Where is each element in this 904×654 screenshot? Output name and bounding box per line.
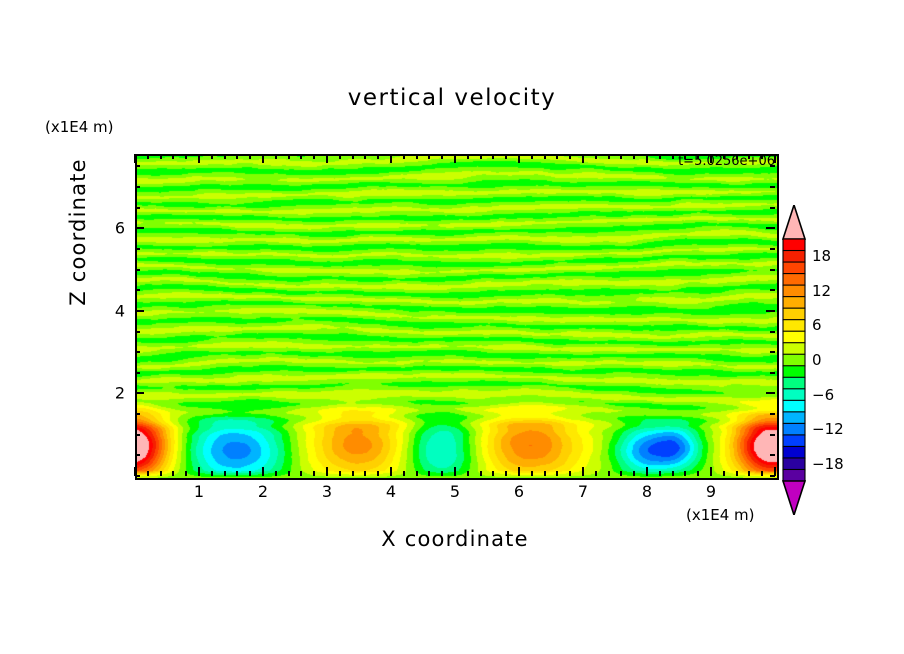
x-minor-tick-top — [467, 154, 469, 159]
y-minor-tick — [135, 475, 140, 477]
x-minor-tick-top — [531, 154, 533, 159]
colorbar-band — [783, 285, 805, 297]
colorbar-band — [783, 239, 805, 251]
colorbar-over-arrow — [783, 205, 805, 239]
colorbar-tick-label: 12 — [812, 282, 831, 300]
x-minor-tick-top — [352, 154, 354, 159]
x-minor-tick — [236, 471, 238, 476]
x-minor-tick-top — [595, 154, 597, 159]
x-minor-tick — [428, 471, 430, 476]
colorbar-band — [783, 343, 805, 355]
colorbar-band — [783, 458, 805, 470]
x-minor-tick — [211, 471, 213, 476]
x-minor-tick-top — [300, 154, 302, 159]
x-major-tick-top — [390, 154, 392, 163]
colorbar-tick-label: −18 — [812, 455, 844, 473]
x-minor-tick-top — [441, 154, 443, 159]
x-minor-tick — [288, 471, 290, 476]
x-minor-tick — [672, 471, 674, 476]
x-minor-tick-top — [672, 154, 674, 159]
colorbar-band — [783, 412, 805, 424]
x-minor-tick-top — [224, 154, 226, 159]
colorbar-band — [783, 469, 805, 481]
colorbar-band — [783, 446, 805, 458]
x-minor-tick — [467, 471, 469, 476]
x-major-tick — [710, 467, 712, 476]
colorbar-band — [783, 354, 805, 366]
y-minor-tick-right — [770, 372, 775, 374]
contour-field-canvas — [137, 156, 777, 478]
x-minor-tick-top — [236, 154, 238, 159]
x-minor-tick — [441, 471, 443, 476]
x-minor-tick-top — [288, 154, 290, 159]
y-minor-tick — [135, 454, 140, 456]
y-minor-tick-right — [770, 434, 775, 436]
x-major-tick — [390, 467, 392, 476]
x-minor-tick-top — [172, 154, 174, 159]
y-minor-tick — [135, 434, 140, 436]
contour-figure: vertical velocity (x1E4 m) t=5.0256e+06 … — [0, 0, 904, 654]
colorbar-tick-label: 0 — [812, 351, 822, 369]
x-major-tick — [262, 467, 264, 476]
x-major-tick-top — [326, 154, 328, 163]
x-minor-tick — [492, 471, 494, 476]
x-minor-tick — [748, 471, 750, 476]
x-minor-tick — [300, 471, 302, 476]
y-minor-tick — [135, 207, 140, 209]
x-minor-tick — [377, 471, 379, 476]
y-minor-tick — [135, 331, 140, 333]
y-axis-title: Z coordinate — [66, 132, 90, 332]
x-minor-tick — [633, 471, 635, 476]
colorbar-band — [783, 331, 805, 343]
x-major-tick — [454, 467, 456, 476]
x-minor-tick — [608, 471, 610, 476]
y-major-tick-right — [766, 310, 775, 312]
x-minor-tick — [595, 471, 597, 476]
x-minor-tick-top — [211, 154, 213, 159]
x-tick-label: 2 — [258, 482, 268, 501]
x-minor-tick — [684, 471, 686, 476]
x-minor-tick — [364, 471, 366, 476]
x-minor-tick-top — [313, 154, 315, 159]
x-major-tick — [198, 467, 200, 476]
x-minor-tick-top — [659, 154, 661, 159]
colorbar-band — [783, 262, 805, 274]
x-tick-label: 8 — [642, 482, 652, 501]
x-minor-tick — [556, 471, 558, 476]
y-minor-tick — [135, 269, 140, 271]
y-minor-tick-right — [770, 289, 775, 291]
x-minor-tick — [185, 471, 187, 476]
y-minor-tick — [135, 248, 140, 250]
x-minor-tick — [697, 471, 699, 476]
x-minor-tick — [480, 471, 482, 476]
x-minor-tick-top — [416, 154, 418, 159]
x-minor-tick-top — [403, 154, 405, 159]
y-minor-tick-right — [770, 248, 775, 250]
x-minor-tick-top — [492, 154, 494, 159]
x-minor-tick — [160, 471, 162, 476]
x-tick-label: 1 — [194, 482, 204, 501]
x-minor-tick — [531, 471, 533, 476]
y-minor-tick — [135, 372, 140, 374]
x-major-tick — [646, 467, 648, 476]
x-minor-tick — [249, 471, 251, 476]
y-minor-tick-right — [770, 269, 775, 271]
x-minor-tick — [172, 471, 174, 476]
x-major-tick-top — [646, 154, 648, 163]
x-minor-tick-top — [633, 154, 635, 159]
x-major-tick-top — [198, 154, 200, 163]
plot-area: t=5.0256e+06 — [135, 154, 779, 480]
colorbar-band — [783, 320, 805, 332]
x-minor-tick — [569, 471, 571, 476]
timestamp-annotation: t=5.0256e+06 — [678, 154, 775, 169]
x-major-tick — [518, 467, 520, 476]
x-major-tick-top — [262, 154, 264, 163]
x-tick-label: 4 — [386, 482, 396, 501]
x-minor-tick-top — [275, 154, 277, 159]
x-tick-label: 3 — [322, 482, 332, 501]
x-minor-tick-top — [377, 154, 379, 159]
x-minor-tick — [224, 471, 226, 476]
y-minor-tick-right — [770, 207, 775, 209]
x-tick-label: 7 — [578, 482, 588, 501]
x-major-tick — [326, 467, 328, 476]
x-minor-tick-top — [608, 154, 610, 159]
x-minor-tick — [313, 471, 315, 476]
x-minor-tick — [403, 471, 405, 476]
y-major-tick — [135, 392, 144, 394]
y-tick-label: 6 — [97, 219, 125, 238]
x-minor-tick — [339, 471, 341, 476]
x-minor-tick-top — [480, 154, 482, 159]
y-minor-tick-right — [770, 413, 775, 415]
y-major-tick-right — [766, 392, 775, 394]
colorbar-gradient — [782, 205, 806, 515]
x-minor-tick — [620, 471, 622, 476]
colorbar-band — [783, 435, 805, 447]
colorbar-tick-label: 6 — [812, 316, 822, 334]
y-minor-tick — [135, 186, 140, 188]
x-major-tick — [582, 467, 584, 476]
colorbar-tick-label: −6 — [812, 386, 834, 404]
x-minor-tick — [723, 471, 725, 476]
x-tick-label: 9 — [706, 482, 716, 501]
x-minor-tick — [736, 471, 738, 476]
x-major-tick-top — [134, 154, 136, 163]
colorbar-band — [783, 366, 805, 378]
x-tick-label: 6 — [514, 482, 524, 501]
y-minor-tick-right — [770, 454, 775, 456]
y-minor-tick-right — [770, 475, 775, 477]
x-axis-units-label: (x1E4 m) — [686, 506, 755, 524]
x-minor-tick-top — [185, 154, 187, 159]
colorbar-under-arrow — [783, 481, 805, 515]
x-minor-tick — [352, 471, 354, 476]
colorbar-band — [783, 377, 805, 389]
x-minor-tick — [659, 471, 661, 476]
x-minor-tick-top — [428, 154, 430, 159]
x-minor-tick-top — [364, 154, 366, 159]
x-minor-tick-top — [544, 154, 546, 159]
x-major-tick-top — [454, 154, 456, 163]
y-tick-label: 4 — [97, 301, 125, 320]
x-minor-tick — [416, 471, 418, 476]
colorbar-band — [783, 274, 805, 286]
y-minor-tick-right — [770, 331, 775, 333]
x-tick-label: 5 — [450, 482, 460, 501]
colorbar-band — [783, 389, 805, 401]
y-minor-tick-right — [770, 186, 775, 188]
y-minor-tick — [135, 165, 140, 167]
x-major-tick-top — [518, 154, 520, 163]
x-minor-tick-top — [339, 154, 341, 159]
colorbar-tick-label: 18 — [812, 247, 831, 265]
colorbar-band — [783, 423, 805, 435]
y-tick-label: 2 — [97, 384, 125, 403]
y-minor-tick-right — [770, 351, 775, 353]
x-minor-tick-top — [249, 154, 251, 159]
x-minor-tick — [544, 471, 546, 476]
x-minor-tick-top — [147, 154, 149, 159]
x-minor-tick-top — [160, 154, 162, 159]
y-major-tick-right — [766, 227, 775, 229]
x-major-tick-top — [582, 154, 584, 163]
x-minor-tick-top — [620, 154, 622, 159]
x-minor-tick-top — [505, 154, 507, 159]
x-minor-tick — [761, 471, 763, 476]
colorbar: 181260−6−12−18 — [782, 205, 806, 515]
y-minor-tick — [135, 413, 140, 415]
x-minor-tick — [505, 471, 507, 476]
page-title: vertical velocity — [0, 85, 904, 111]
y-minor-tick — [135, 289, 140, 291]
x-minor-tick-top — [569, 154, 571, 159]
y-minor-tick — [135, 351, 140, 353]
x-axis-title: X coordinate — [135, 527, 775, 551]
y-major-tick — [135, 227, 144, 229]
colorbar-band — [783, 308, 805, 320]
colorbar-tick-label: −12 — [812, 420, 844, 438]
y-major-tick — [135, 310, 144, 312]
x-minor-tick — [147, 471, 149, 476]
x-minor-tick — [275, 471, 277, 476]
colorbar-band — [783, 297, 805, 309]
x-minor-tick-top — [556, 154, 558, 159]
colorbar-band — [783, 251, 805, 263]
colorbar-band — [783, 400, 805, 412]
